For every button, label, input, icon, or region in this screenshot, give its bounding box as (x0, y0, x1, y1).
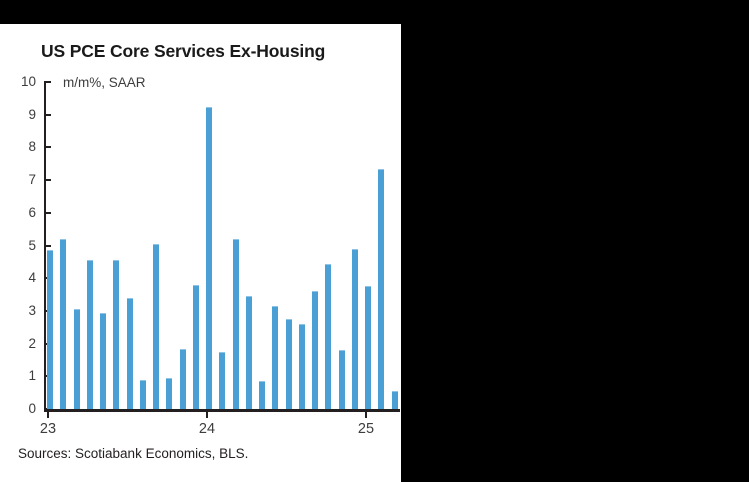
y-axis-tick-label: 4 (2, 271, 36, 285)
x-axis-tick (365, 411, 367, 418)
y-axis-tick-label: 10 (2, 75, 36, 89)
x-axis-tick-label: 25 (346, 421, 386, 437)
x-axis-tick (206, 411, 208, 418)
bar (74, 309, 80, 409)
bar (299, 324, 305, 409)
x-axis-tick (47, 411, 49, 418)
y-axis-tick-label: 9 (2, 108, 36, 122)
bar (180, 349, 186, 409)
chart-card: US PCE Core Services Ex-Housing m/m%, SA… (0, 24, 401, 482)
bar (378, 169, 384, 409)
bar (286, 319, 292, 409)
bar (339, 350, 345, 409)
bar (153, 244, 159, 409)
bar (246, 296, 252, 409)
bar (259, 381, 265, 409)
bar (392, 391, 398, 409)
bar (60, 239, 66, 409)
bar (100, 313, 106, 409)
bar (233, 239, 239, 409)
y-axis-tick-label: 8 (2, 140, 36, 154)
bar-series (44, 82, 400, 409)
y-axis-tick-label: 2 (2, 337, 36, 351)
bar (312, 291, 318, 409)
bar (47, 250, 53, 409)
y-axis-tick-label: 3 (2, 304, 36, 318)
x-axis-tick-label: 23 (28, 421, 68, 437)
x-axis-tick-label: 24 (187, 421, 227, 437)
bar (140, 380, 146, 409)
x-axis-line (44, 409, 400, 412)
y-axis-tick-label: 0 (2, 402, 36, 416)
y-axis-tick-label: 6 (2, 206, 36, 220)
y-axis-tick-label: 7 (2, 173, 36, 187)
y-axis-tick-label: 5 (2, 239, 36, 253)
source-note: Sources: Scotiabank Economics, BLS. (18, 446, 248, 461)
bar (127, 298, 133, 409)
bar (325, 264, 331, 410)
bar (219, 352, 225, 409)
bar (166, 378, 172, 409)
y-axis-tick-label: 1 (2, 369, 36, 383)
bar (352, 249, 358, 409)
bar (87, 260, 93, 409)
bar (272, 306, 278, 409)
bar (113, 260, 119, 409)
page-title: US PCE Core Services Ex-Housing (41, 41, 325, 62)
bar (193, 285, 199, 409)
bar (365, 286, 371, 409)
bar (206, 107, 212, 409)
